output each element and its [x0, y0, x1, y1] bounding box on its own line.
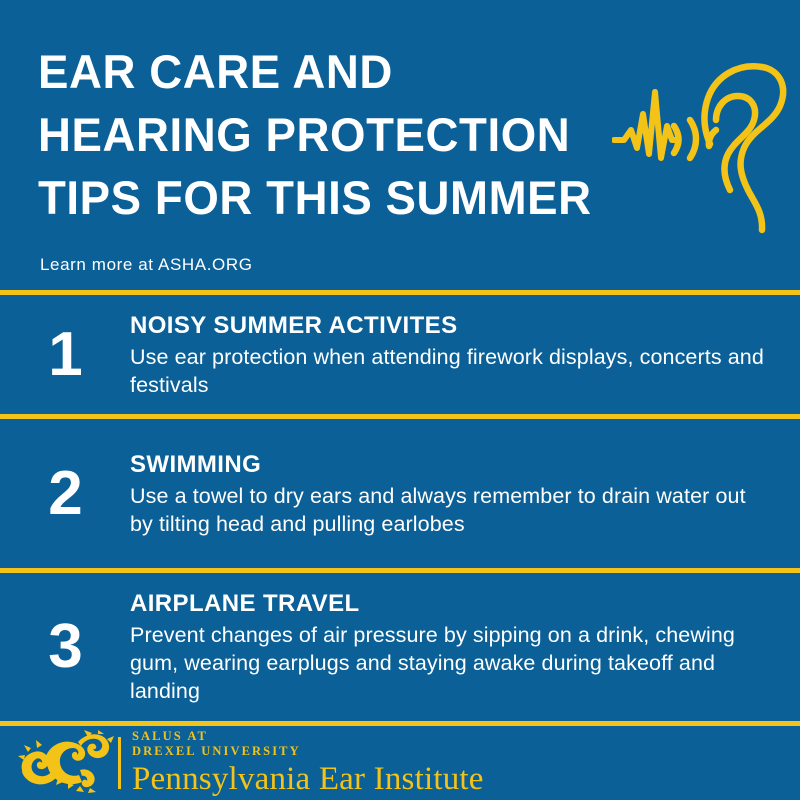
tip-heading-3: AIRPLANE TRAVEL: [130, 589, 774, 619]
tip-text-2: Use a towel to dry ears and always remem…: [130, 482, 774, 538]
tip-item-1: 1 NOISY SUMMER ACTIVITES Use ear protect…: [0, 295, 800, 414]
logo-kicker-line-1: SALUS AT: [132, 729, 484, 744]
learn-more-subtitle: Learn more at ASHA.ORG: [40, 255, 253, 275]
organization-name: Pennsylvania Ear Institute: [132, 760, 484, 798]
tip-body-2: SWIMMING Use a towel to dry ears and alw…: [130, 450, 800, 538]
tip-text-3: Prevent changes of air pressure by sippi…: [130, 621, 774, 705]
tip-number-2: 2: [0, 463, 130, 525]
poster-header: EAR CARE AND HEARING PROTECTION TIPS FOR…: [0, 0, 800, 291]
logo-kicker-line-2: DREXEL UNIVERSITY: [132, 744, 484, 759]
dragon-logo-icon: [18, 730, 116, 796]
infographic-poster: EAR CARE AND HEARING PROTECTION TIPS FOR…: [0, 0, 800, 800]
tip-body-3: AIRPLANE TRAVEL Prevent changes of air p…: [130, 589, 800, 705]
tip-body-1: NOISY SUMMER ACTIVITES Use ear protectio…: [130, 311, 800, 399]
title-line-3: TIPS FOR THIS SUMMER: [38, 166, 639, 229]
tip-item-2: 2 SWIMMING Use a towel to dry ears and a…: [0, 419, 800, 568]
logo-text-block: SALUS AT DREXEL UNIVERSITY Pennsylvania …: [132, 729, 484, 798]
tip-heading-1: NOISY SUMMER ACTIVITES: [130, 311, 774, 341]
tip-text-1: Use ear protection when attending firewo…: [130, 343, 774, 399]
tip-item-3: 3 AIRPLANE TRAVEL Prevent changes of air…: [0, 573, 800, 721]
soundwave-icon: [614, 92, 678, 158]
tip-number-3: 3: [0, 616, 130, 678]
ear-with-soundwaves-icon: [612, 62, 798, 240]
tip-number-1: 1: [0, 324, 130, 386]
page-title: EAR CARE AND HEARING PROTECTION TIPS FOR…: [38, 40, 658, 229]
logo-divider-rule: [118, 737, 121, 789]
title-line-2: HEARING PROTECTION: [38, 103, 639, 166]
tip-heading-2: SWIMMING: [130, 450, 774, 480]
title-line-1: EAR CARE AND: [38, 40, 639, 103]
poster-footer: SALUS AT DREXEL UNIVERSITY Pennsylvania …: [0, 726, 800, 800]
